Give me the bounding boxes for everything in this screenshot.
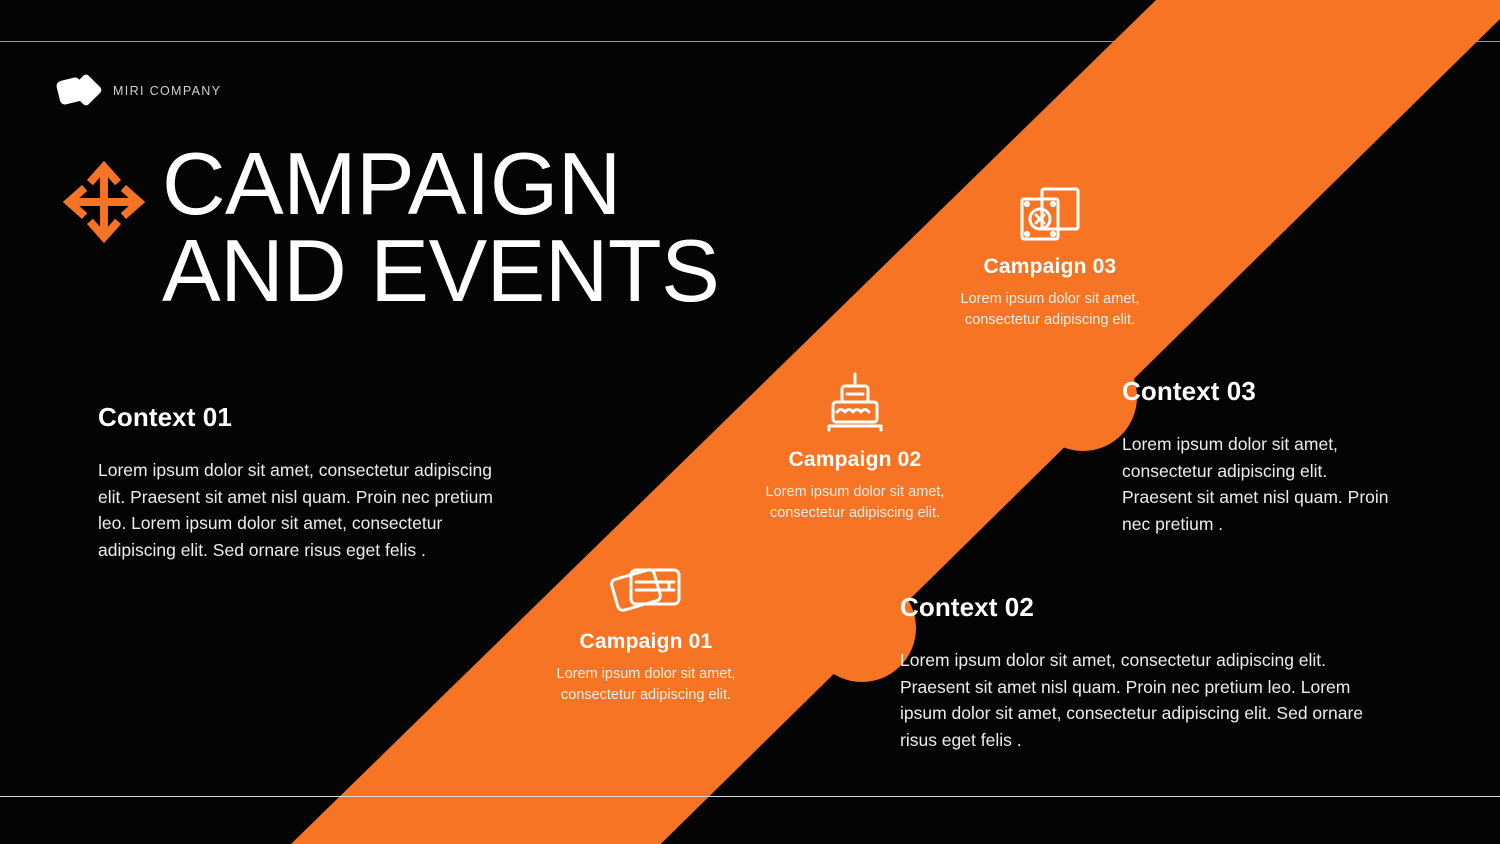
campaign-02-title: Campaign 02: [737, 448, 973, 472]
context-block-01: Context 01 Lorem ipsum dolor sit amet, c…: [98, 402, 502, 563]
context-block-03: Context 03 Lorem ipsum dolor sit amet, c…: [1122, 376, 1390, 537]
two-overlapping-squares-logo-icon: [58, 74, 102, 108]
campaign-block-02: Campaign 02 Lorem ipsum dolor sit amet, …: [737, 372, 973, 523]
context-01-title: Context 01: [98, 402, 502, 433]
campaign-block-01: Campaign 01 Lorem ipsum dolor sit amet, …: [528, 560, 764, 705]
campaign-01-body: Lorem ipsum dolor sit amet, consectetur …: [528, 664, 764, 705]
campaign-01-title: Campaign 01: [528, 630, 764, 654]
tickets-stack-icon: [528, 560, 764, 618]
four-direction-move-icon: [60, 158, 148, 246]
campaign-03-title: Campaign 03: [932, 255, 1168, 279]
slide-canvas: MIRI COMPANY CAMPAIGN AND EVENTS Context…: [0, 0, 1500, 844]
tiered-cake-icon: [737, 372, 973, 436]
context-02-body: Lorem ipsum dolor sit amet, consectetur …: [900, 647, 1370, 753]
title-block: CAMPAIGN AND EVENTS: [60, 140, 719, 314]
context-03-title: Context 03: [1122, 376, 1390, 407]
context-01-body: Lorem ipsum dolor sit amet, consectetur …: [98, 457, 502, 563]
top-divider-line: [0, 41, 1500, 42]
campaign-02-body: Lorem ipsum dolor sit amet, consectetur …: [737, 482, 973, 523]
campaign-03-body: Lorem ipsum dolor sit amet, consectetur …: [932, 289, 1168, 330]
page-title: CAMPAIGN AND EVENTS: [162, 140, 719, 314]
context-03-body: Lorem ipsum dolor sit amet, consectetur …: [1122, 431, 1390, 537]
brand-name: MIRI COMPANY: [113, 84, 221, 98]
bottom-divider-line: [0, 796, 1500, 797]
campaign-block-03: Campaign 03 Lorem ipsum dolor sit amet, …: [932, 185, 1168, 330]
banknotes-money-icon: [932, 185, 1168, 243]
context-02-title: Context 02: [900, 592, 1370, 623]
brand-logo[interactable]: MIRI COMPANY: [58, 74, 221, 108]
context-block-02: Context 02 Lorem ipsum dolor sit amet, c…: [900, 592, 1370, 753]
